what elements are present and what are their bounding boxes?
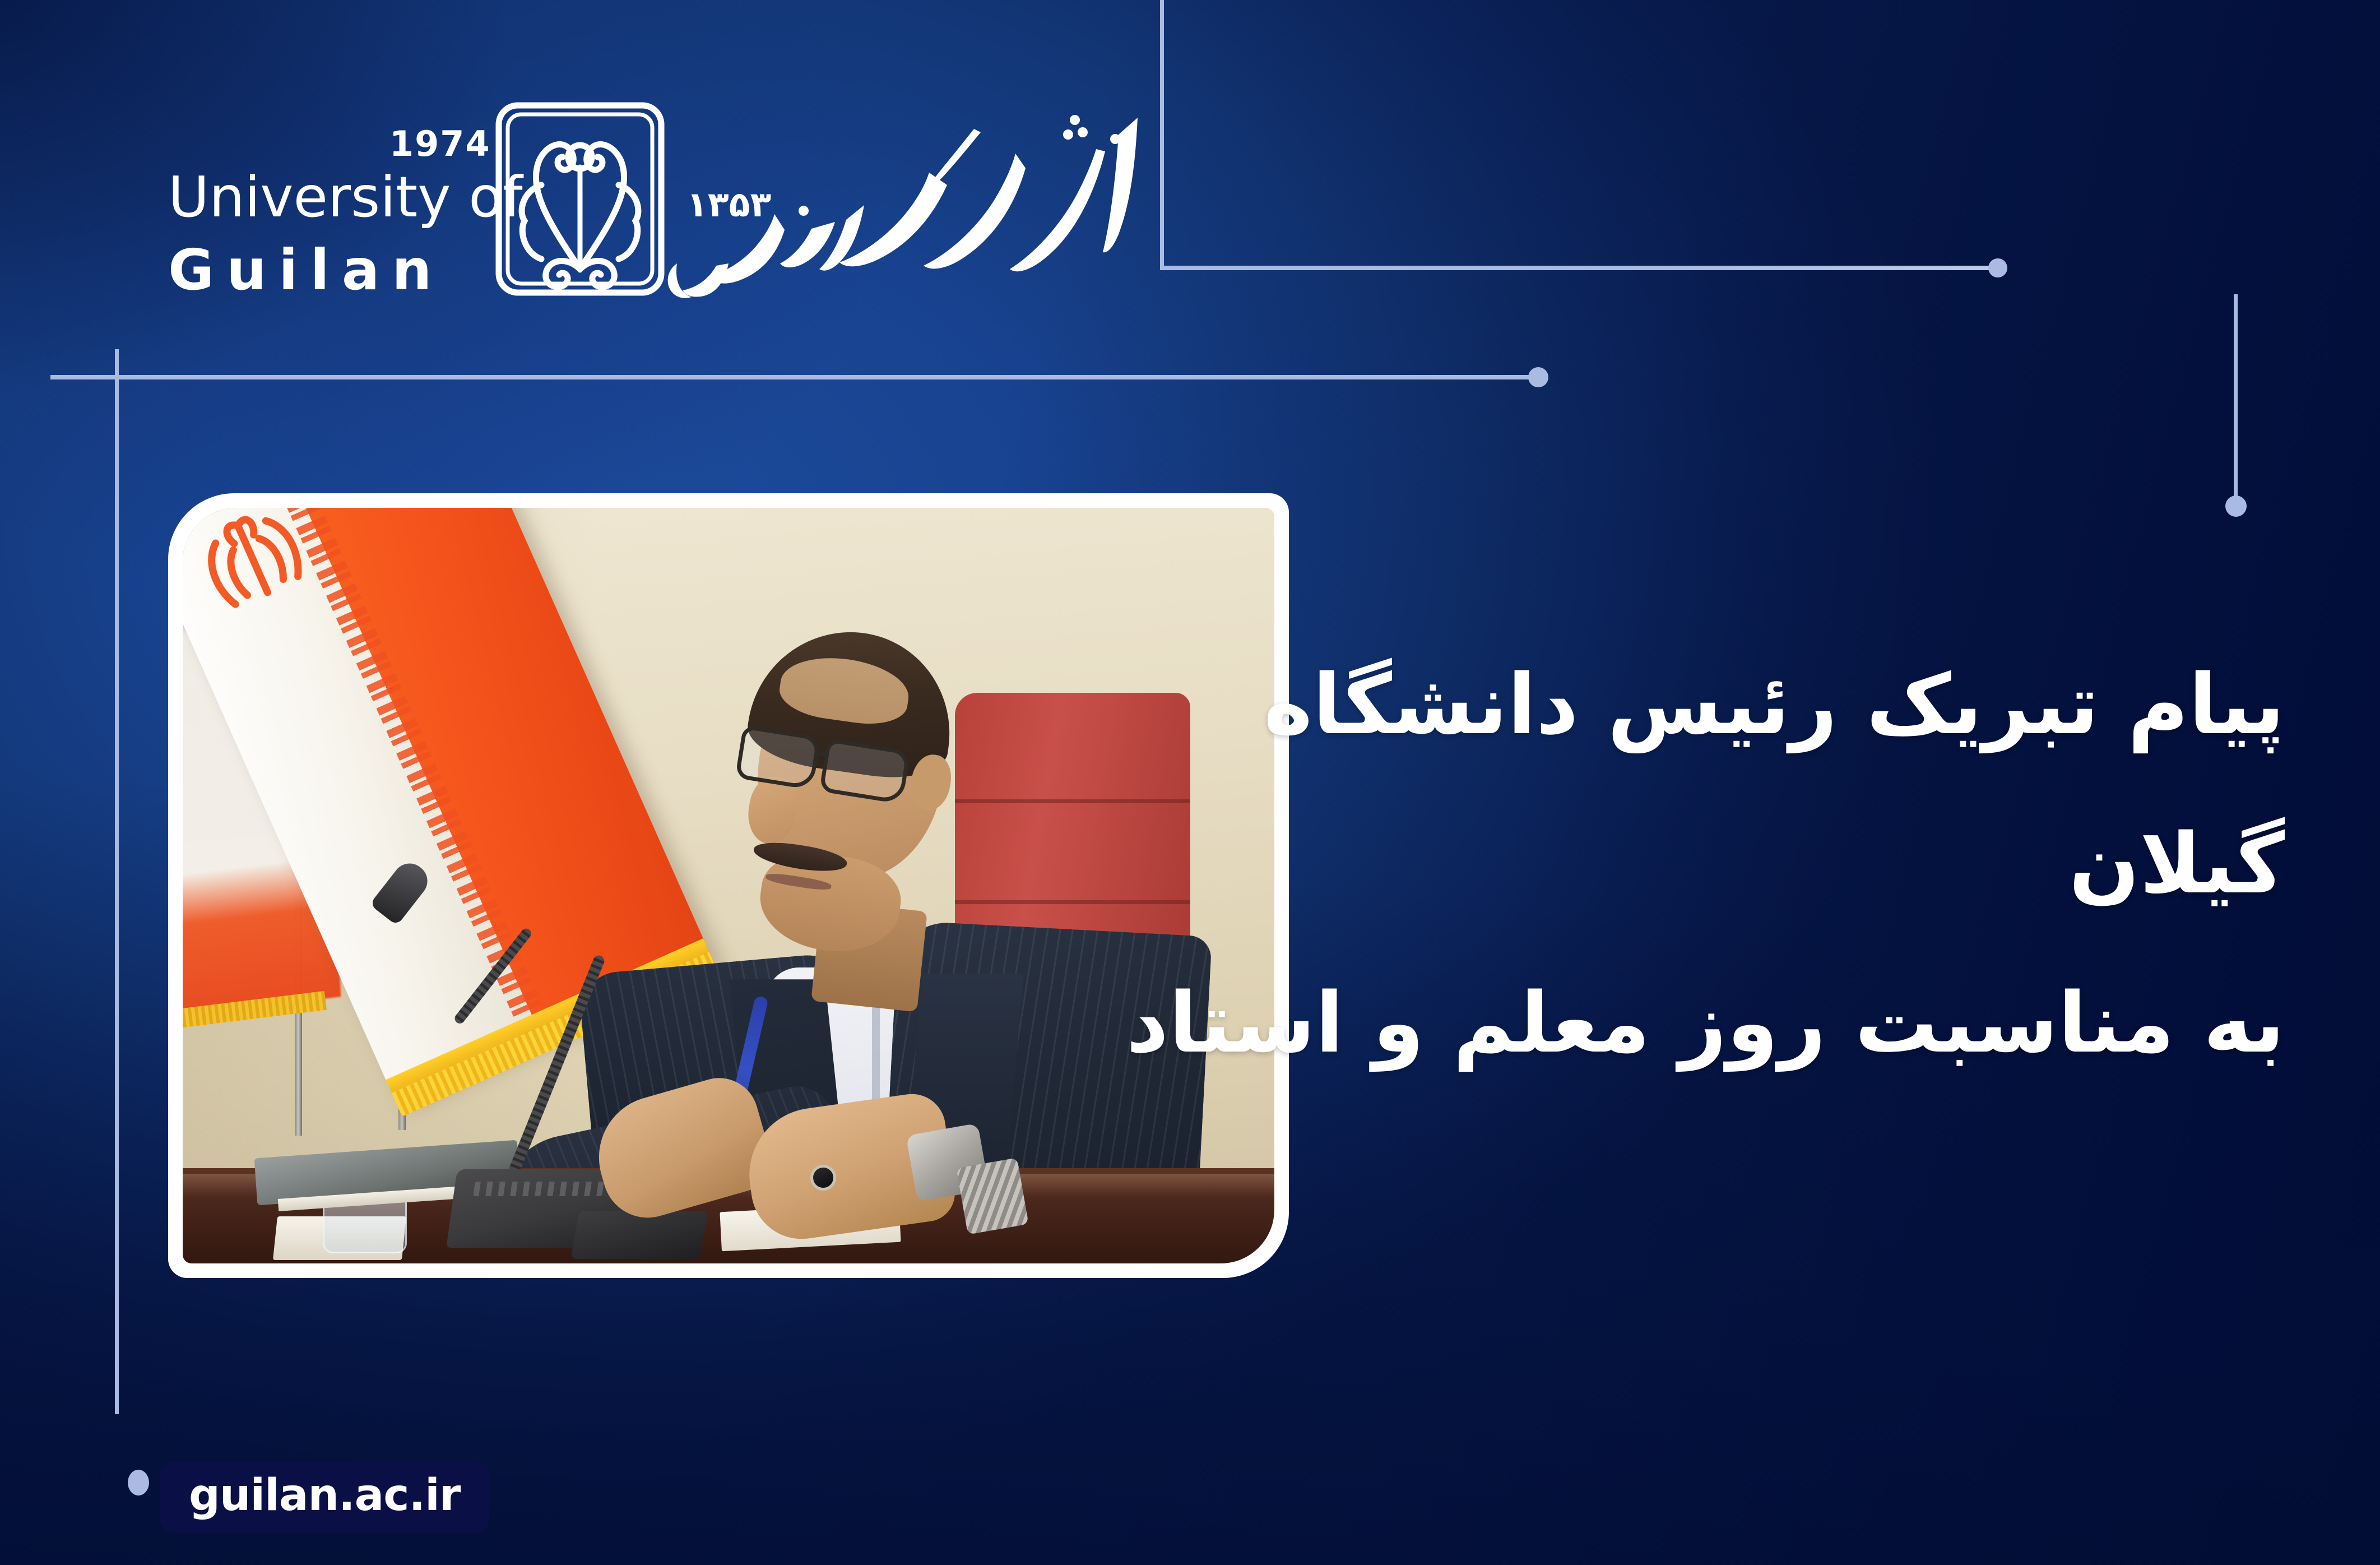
decor-bottom-dot (128, 1470, 149, 1495)
decor-left-line-end-dot (1528, 367, 1548, 387)
decor-top-right-dot (1988, 258, 2007, 277)
logo-persian-name-calligraphy (667, 95, 1149, 320)
headline-line-1: پیام تبریک رئیس دانشگاه گیلان (1264, 656, 2285, 912)
microphone-base-front (570, 1211, 708, 1259)
microphone-label (473, 1182, 604, 1196)
watch-band (956, 1157, 1028, 1234)
website-url-badge[interactable]: guilan.ac.ir (160, 1461, 489, 1533)
logo-english-line1: University of (168, 169, 482, 225)
logo-year-latin: 1974 (389, 123, 491, 164)
headline-line-2: به مناسبت روز معلم و استاد (1108, 943, 2285, 1103)
logo-english-name: University of Guilan (168, 169, 482, 298)
guilan-butterfly-emblem-icon (488, 101, 672, 297)
logo-english-line2: Guilan (168, 242, 482, 298)
university-logo: University of Guilan 1974 ۱۳۵۳ (168, 118, 1154, 353)
headline: پیام تبریک رئیس دانشگاه گیلان به مناسبت … (1108, 625, 2285, 1103)
glasses-lens-left (735, 725, 821, 790)
banner-canvas: University of Guilan 1974 ۱۳۵۳ (0, 0, 2380, 1565)
decor-right-line-end-dot (2225, 496, 2247, 517)
